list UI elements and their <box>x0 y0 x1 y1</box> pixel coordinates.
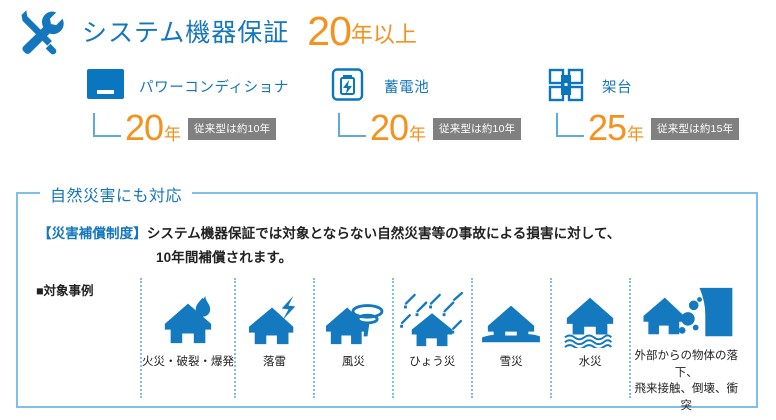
warranty-years-number: 25 <box>588 107 626 148</box>
example-lightning: 落雷 <box>234 278 313 398</box>
tools-wrench-screwdriver-icon <box>14 6 68 56</box>
elbow-connector-icon <box>556 113 584 137</box>
warranty-item-head: 架台 <box>548 66 739 106</box>
warranty-years: 20年 <box>370 110 426 146</box>
example-label: 落雷 <box>263 354 286 371</box>
example-label: 外部からの物体の落下、 飛来接触、倒壊、衝突 <box>631 348 743 415</box>
examples-heading: ■対象事例 <box>36 278 140 398</box>
header-years-number: 20 <box>307 8 351 54</box>
example-snow: 雪災 <box>471 278 550 398</box>
house-flood-icon <box>559 286 621 348</box>
example-wind: 風災 <box>313 278 392 398</box>
warranty-item-head: 蓄電池 <box>330 66 521 106</box>
house-fire-icon <box>157 286 219 348</box>
house-landslide-icon <box>639 286 733 342</box>
elbow-connector-icon <box>338 113 366 137</box>
page-title: システム機器保証 <box>82 13 289 49</box>
house-snow-icon <box>480 286 542 348</box>
warranty-years: 25年 <box>588 110 644 146</box>
example-landslide: 外部からの物体の落下、 飛来接触、倒壊、衝突 <box>629 278 743 398</box>
warranty-years-unit: 年 <box>409 125 426 144</box>
warranty-item-storage-battery: 蓄電池 20年 従来型は約10年 <box>330 66 521 146</box>
example-label: 風災 <box>342 354 365 371</box>
disaster-note-tag: 【災害補償制度】 <box>38 226 147 241</box>
warranty-item-label: 蓄電池 <box>384 76 429 97</box>
warranty-item-body: 25年 従来型は約15年 <box>548 110 739 146</box>
disaster-note: 【災害補償制度】システム機器保証では対象とならない自然災害等の事故による損害に対… <box>38 222 738 269</box>
example-hail: ひょう災 <box>392 278 471 398</box>
status-badge: 従来型は約10年 <box>433 118 521 140</box>
house-hail-icon <box>398 286 466 348</box>
header-years-unit: 年以上 <box>351 22 417 47</box>
storage-battery-icon <box>330 68 374 104</box>
disaster-examples: ■対象事例 火災・破裂・爆発 <box>36 278 742 398</box>
disaster-note-line1: システム機器保証では対象とならない自然災害等の事故による損害に対して、 <box>147 226 621 241</box>
example-label: ひょう災 <box>409 354 455 371</box>
house-lightning-icon <box>243 286 305 348</box>
warranty-item-mounting-frame: 架台 25年 従来型は約15年 <box>548 66 739 146</box>
warranty-row: パワーコンディショナ 20年 従来型は約10年 <box>0 66 776 166</box>
warranty-item-label: 架台 <box>602 76 632 97</box>
house-tornado-icon <box>322 286 384 348</box>
warranty-item-body: 20年 従来型は約10年 <box>85 110 289 146</box>
warranty-years-number: 20 <box>125 107 163 148</box>
warranty-item-body: 20年 従来型は約10年 <box>330 110 521 146</box>
warranty-years-unit: 年 <box>164 125 181 144</box>
elbow-connector-icon <box>93 113 121 137</box>
header: システム機器保証 20年以上 <box>14 6 417 56</box>
warranty-item-head: パワーコンディショナ <box>85 66 289 106</box>
status-badge: 従来型は約10年 <box>188 118 276 140</box>
warranty-item-label: パワーコンディショナ <box>139 76 289 97</box>
header-years: 20年以上 <box>307 8 417 55</box>
warranty-item-power-conditioner: パワーコンディショナ 20年 従来型は約10年 <box>85 66 289 146</box>
disaster-note-line2: 10年間補償されます。 <box>38 246 738 270</box>
example-label: 雪災 <box>500 354 523 371</box>
example-flood: 水災 <box>550 278 629 398</box>
warranty-years: 20年 <box>125 110 181 146</box>
status-badge: 従来型は約15年 <box>651 118 739 140</box>
disaster-box-title: 自然災害にも対応 <box>40 182 192 206</box>
disaster-coverage-box: 自然災害にも対応 【災害補償制度】システム機器保証では対象とならない自然災害等の… <box>16 192 758 408</box>
example-label: 水災 <box>579 354 602 371</box>
warranty-years-number: 20 <box>370 107 408 148</box>
power-conditioner-icon <box>85 68 129 104</box>
infographic-root: システム機器保証 20年以上 パワーコンディショナ 20年 <box>0 0 776 420</box>
example-label: 火災・破裂・爆発 <box>142 354 234 371</box>
mounting-frame-icon <box>548 68 592 104</box>
warranty-years-unit: 年 <box>627 125 644 144</box>
example-fire: 火災・破裂・爆発 <box>140 278 234 398</box>
